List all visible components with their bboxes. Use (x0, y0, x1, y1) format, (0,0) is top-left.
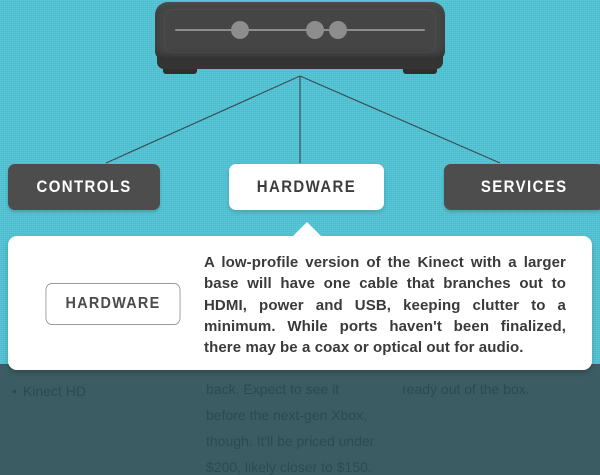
panel-pointer-arrow (292, 222, 322, 237)
dimmed-left-column: Kinect Box Kinect HD (12, 364, 198, 475)
dimmed-right-column: Xbox so it'll be controller-ready out of… (402, 364, 588, 475)
detail-panel: HARDWARE A low-profile version of the Ki… (8, 236, 592, 370)
device-body (155, 2, 445, 60)
dimmed-middle-column: and it has not been pushed back. Expect … (206, 364, 392, 475)
dimmed-background-content: Kinect Box Kinect HD and it has not been… (0, 364, 600, 475)
category-node-label: CONTROLS (36, 177, 131, 197)
category-node-label: HARDWARE (257, 177, 356, 197)
connector-line-controls (106, 76, 300, 163)
dimmed-paragraph: and it has not been pushed back. Expect … (206, 364, 376, 475)
kinect-sensor-icon (155, 2, 445, 74)
dimmed-list: Kinect Box Kinect HD (12, 364, 90, 404)
category-node-label: SERVICES (481, 177, 568, 197)
camera-lens-icon (329, 21, 347, 39)
camera-lens-icon (231, 21, 249, 39)
panel-category-tag: HARDWARE (46, 283, 181, 325)
category-node-hardware[interactable]: HARDWARE (229, 164, 384, 210)
list-item: Kinect HD (12, 378, 90, 404)
panel-description-text: A low-profile version of the Kinect with… (204, 252, 566, 358)
category-node-services[interactable]: SERVICES (444, 164, 600, 210)
connector-line-services (300, 76, 500, 163)
infographic-canvas: Kinect Box Kinect HD and it has not been… (0, 0, 600, 475)
category-node-controls[interactable]: CONTROLS (8, 164, 160, 210)
device-sensor-bar (175, 29, 425, 31)
camera-lens-icon (306, 21, 324, 39)
